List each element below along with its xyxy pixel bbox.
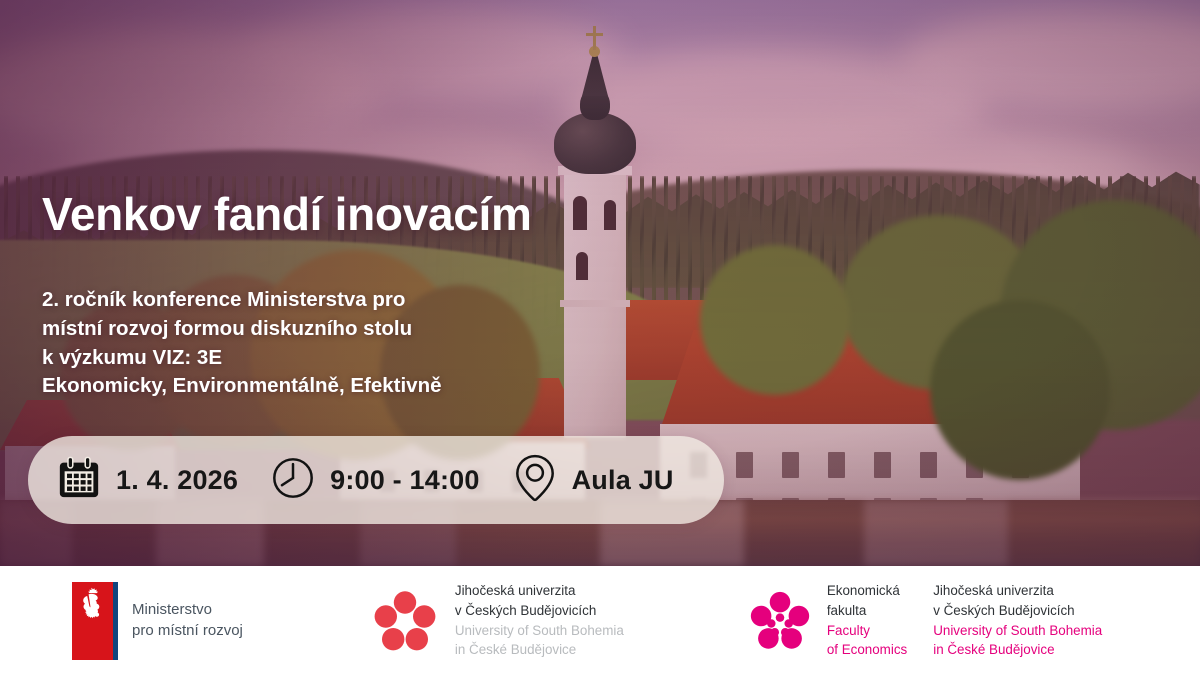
ef-en-line-1: Faculty — [827, 621, 907, 641]
czech-lion-flag-icon — [72, 582, 118, 660]
ef-cz-line-2: fakulta — [827, 601, 907, 621]
ef-cz-line-1: Ekonomická — [827, 581, 907, 601]
subtitle-line-1: 2. ročník konference Ministerstva pro — [42, 286, 682, 315]
ef-ju-cz-line-1: Jihočeská univerzita — [933, 581, 1102, 601]
ef-ju-en-line-1: University of South Bohemia — [933, 621, 1102, 641]
subtitle-line-3: k výzkumu VIZ: 3E — [42, 344, 682, 373]
subtitle: 2. ročník konference Ministerstva pro mí… — [42, 286, 682, 401]
logo-jihoceska-univerzita: Jihočeská univerzita v Českých Budějovic… — [373, 581, 624, 659]
conference-poster: Venkov fandí inovacím 2. ročník konferen… — [0, 0, 1200, 675]
hero-banner: Venkov fandí inovacím 2. ročník konferen… — [0, 0, 1200, 566]
ef-en-line-2: of Economics — [827, 640, 907, 660]
event-date-label: 1. 4. 2026 — [116, 465, 238, 496]
page-title: Venkov fandí inovacím — [42, 190, 682, 238]
subtitle-line-4: Ekonomicky, Environmentálně, Efektivně — [42, 372, 682, 401]
event-location: Aula JU — [496, 453, 690, 508]
logo-ekonomicka-fakulta: Ekonomická fakulta Faculty of Economics … — [749, 581, 1102, 659]
clock-icon — [270, 455, 316, 506]
hero-copy: Venkov fandí inovacím 2. ročník konferen… — [42, 190, 682, 401]
ministry-logo-text: Ministerstvo pro místní rozvoj — [132, 600, 243, 641]
logo-ministerstvo-pro-mistni-rozvoj: Ministerstvo pro místní rozvoj — [72, 582, 243, 660]
ef-ju-cz-line-2: v Českých Budějovicích — [933, 601, 1102, 621]
event-date: 1. 4. 2026 — [50, 455, 254, 506]
logo-footer: Ministerstvo pro místní rozvoj Jihočeská… — [0, 566, 1200, 675]
ju-cz-line-2: v Českých Budějovicích — [455, 601, 624, 621]
event-info-bar: 1. 4. 2026 9:00 - 14:00 — [28, 436, 724, 524]
five-petal-rose-detailed-icon — [749, 590, 811, 652]
location-pin-icon — [512, 453, 558, 508]
ministry-line-2: pro místní rozvoj — [132, 621, 243, 642]
faculty-logo-text: Ekonomická fakulta Faculty of Economics — [827, 581, 907, 659]
ju-en-line-2: in České Budějovice — [455, 640, 624, 660]
five-petal-rose-icon — [373, 589, 437, 653]
ef-ju-en-line-2: in České Budějovice — [933, 640, 1102, 660]
university-logo-text: Jihočeská univerzita v Českých Budějovic… — [455, 581, 624, 659]
event-location-label: Aula JU — [572, 465, 674, 496]
subtitle-line-2: místní rozvoj formou diskuzního stolu — [42, 315, 682, 344]
event-time-label: 9:00 - 14:00 — [330, 465, 480, 496]
ju-cz-line-1: Jihočeská univerzita — [455, 581, 624, 601]
faculty-university-text: Jihočeská univerzita v Českých Budějovic… — [933, 581, 1102, 659]
calendar-icon — [56, 455, 102, 506]
ju-en-line-1: University of South Bohemia — [455, 621, 624, 641]
event-time: 9:00 - 14:00 — [254, 455, 496, 506]
flag-blue-stripe — [113, 582, 118, 660]
ministry-line-1: Ministerstvo — [132, 600, 243, 621]
